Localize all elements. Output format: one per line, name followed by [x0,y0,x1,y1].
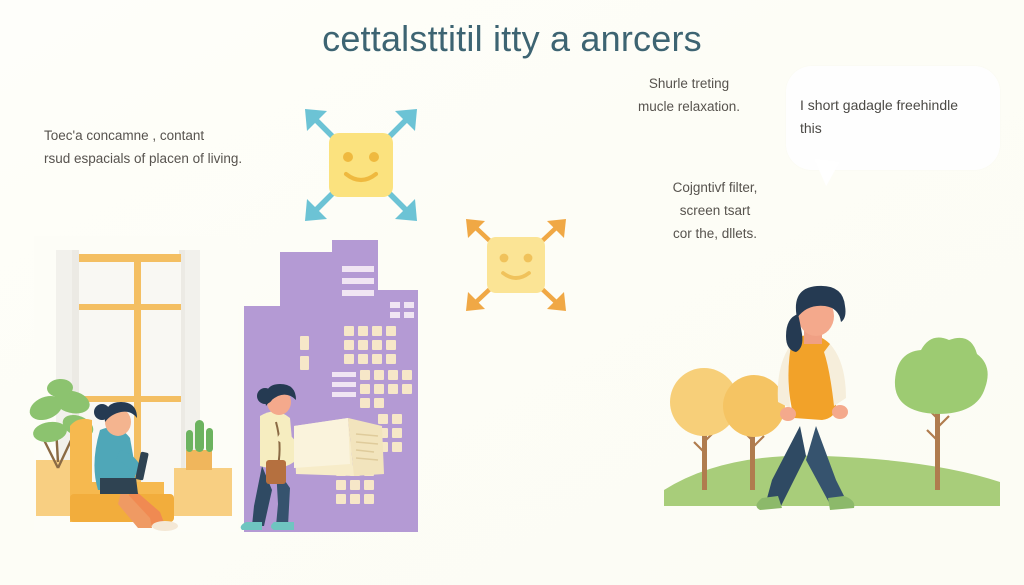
scene-person-walking-in-park [664,284,1000,534]
scene-person-reading-newspaper-city [232,238,438,532]
caption-cognitive-filter: Cojgntivf filter, screen tsart cor the, … [622,176,808,246]
speech-bubble-tail-icon [810,158,839,187]
caption-speech-bubble: I short gadagle freehindle this [800,94,980,140]
page-title: cettalsttitil itty a anrcers [0,18,1024,60]
scene-person-reading-by-window [34,236,238,532]
smiley-expand-large-icon [296,100,426,230]
illustration-canvas: cettalsttitil itty a anrcers Toec'a conc… [0,0,1024,585]
caption-left: Toec'a concamne , contant rsud espacials… [44,124,314,170]
smiley-expand-small-icon [457,210,575,320]
caption-muscle-relaxation: Shurle treting mucle relaxation. [596,72,782,118]
